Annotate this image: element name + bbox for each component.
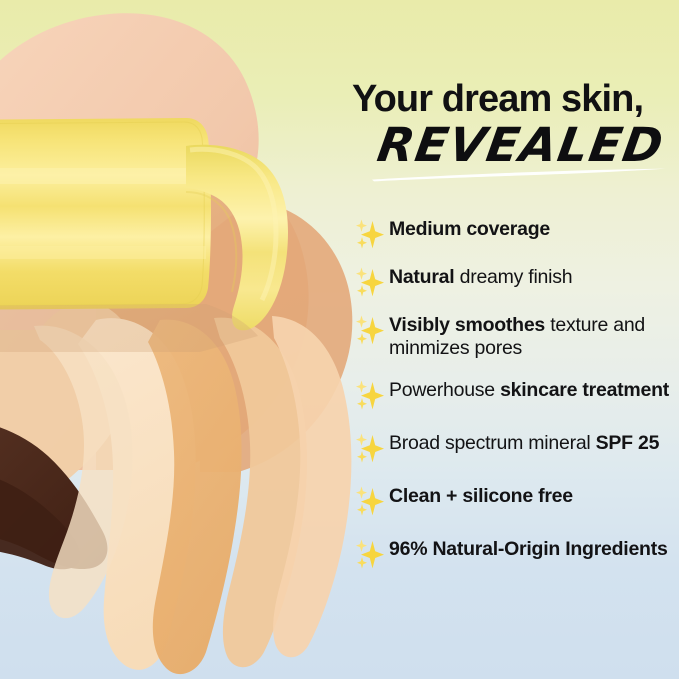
headline-line-2: REVEALED [374, 120, 668, 172]
sparkle-icon [354, 266, 386, 300]
list-item: Natural dreamy finish [354, 264, 679, 300]
list-item-regular: dreamy finish [454, 266, 572, 288]
sparkle-icon [354, 538, 386, 572]
list-item-text: Clean + silicone free [389, 483, 679, 508]
list-item-bold: Natural [389, 266, 454, 288]
product-tube-cap [0, 118, 211, 310]
benefits-list: Medium coverage Natural dreamy finish [354, 216, 679, 584]
list-item: Powerhouse skincare treatment [354, 377, 679, 413]
list-item-text: Natural dreamy finish [389, 264, 679, 289]
headline-line-2-wrap: REVEALED [352, 118, 679, 174]
list-item-text: Broad spectrum mineral SPF 25 [389, 430, 679, 455]
list-item: Broad spectrum mineral SPF 25 [354, 430, 679, 466]
sparkle-icon [354, 432, 386, 466]
list-item-bold: Visibly smoothes [389, 314, 545, 336]
sparkle-icon [354, 314, 386, 348]
list-item-bold: skincare treatment [500, 379, 669, 401]
list-item-text: Medium coverage [389, 216, 679, 241]
promo-image: Your dream skin, REVEALED Medium cov [0, 0, 679, 679]
list-item: Medium coverage [354, 216, 679, 252]
list-item: Visibly smoothes texture and minmizes po… [354, 312, 679, 360]
brush-underline-icon [370, 166, 670, 182]
list-item-regular: Broad spectrum mineral [389, 432, 596, 454]
copy-column: Your dream skin, REVEALED Medium cov [344, 0, 679, 679]
list-item: Clean + silicone free [354, 483, 679, 519]
list-item-text: 96% Natural-Origin Ingredients [389, 536, 679, 561]
tube-shadow [0, 304, 258, 352]
list-item-text: Visibly smoothes texture and minmizes po… [389, 312, 679, 360]
headline-block: Your dream skin, REVEALED [352, 78, 679, 174]
product-artwork [0, 0, 360, 679]
sparkle-icon [354, 379, 386, 413]
list-item-text: Powerhouse skincare treatment [389, 377, 679, 402]
sparkle-icon [354, 218, 386, 252]
headline-line-1: Your dream skin, [352, 78, 679, 120]
list-item-bold: 96% Natural-Origin Ingredients [389, 538, 668, 560]
list-item-bold: Clean + silicone free [389, 485, 573, 507]
list-item-bold: Medium coverage [389, 218, 550, 240]
list-item: 96% Natural-Origin Ingredients [354, 536, 679, 572]
list-item-regular: Powerhouse [389, 379, 500, 401]
list-item-bold: SPF 25 [596, 432, 660, 454]
sparkle-icon [354, 485, 386, 519]
